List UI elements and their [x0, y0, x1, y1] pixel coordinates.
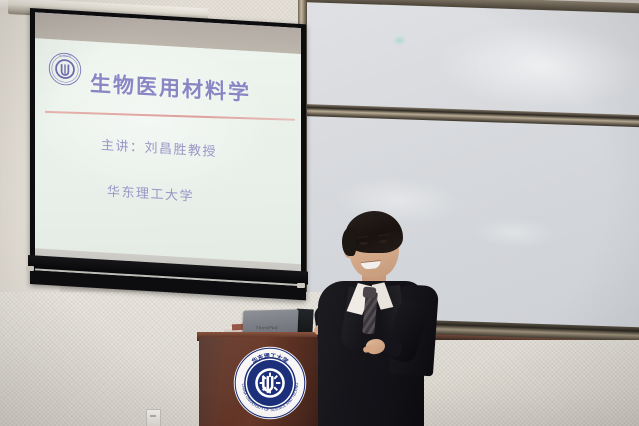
screen-hook-right [297, 283, 305, 288]
outlet-slot [150, 415, 156, 417]
screen-hook-left [26, 266, 34, 271]
presenter-hair-sideburn [342, 228, 356, 256]
ecust-slide-logo-icon: 华东理工大学 [48, 51, 82, 87]
ecust-podium-emblem-icon: 华东理工大学 EAST CHINA UNIVERSITY OF SCIENCE … [233, 346, 307, 420]
whiteboard-highlight-glint [395, 38, 404, 43]
presentation-slide: 华东理工大学 生物医用材料学 主讲：刘昌胜教授 华东理工大学 [35, 38, 301, 264]
slide-title: 生物医用材料学 [90, 68, 251, 108]
slide-presenter-line: 主讲：刘昌胜教授 [101, 134, 217, 160]
lecture-hall-photo: 华东理工大学 生物医用材料学 主讲：刘昌胜教授 华东理工大学 [0, 0, 639, 426]
projection-screen-surface: 华东理工大学 生物医用材料学 主讲：刘昌胜教授 华东理工大学 [35, 12, 301, 286]
slide-divider-line [45, 111, 295, 121]
slide-institution-line: 华东理工大学 [107, 181, 194, 205]
wall-power-outlet[interactable] [146, 409, 161, 426]
laptop-brand-badge: ThinkPad [256, 325, 278, 331]
projection-screen-border: 华东理工大学 生物医用材料学 主讲：刘昌胜教授 华东理工大学 [30, 8, 306, 300]
presenter-tie-knot [363, 286, 377, 298]
